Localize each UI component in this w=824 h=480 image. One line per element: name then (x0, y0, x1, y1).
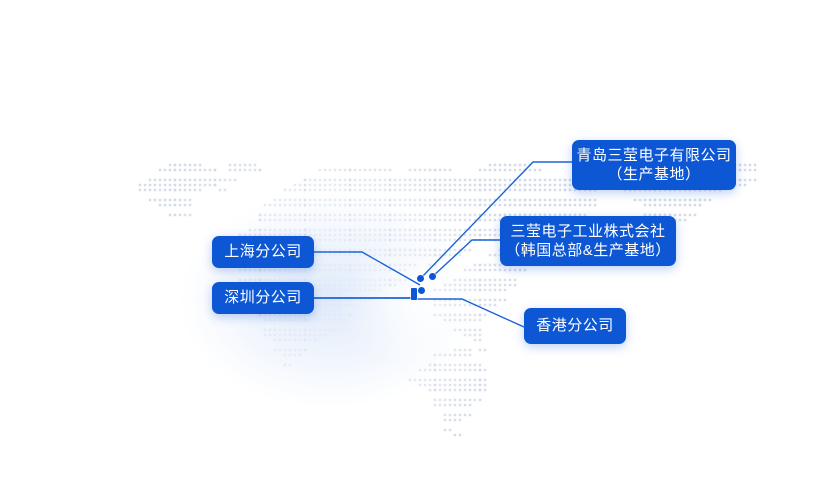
marker-dot-qingdao[interactable] (417, 275, 424, 282)
label-hongkong-line1: 香港分公司 (536, 316, 614, 335)
marker-dot-shenzhen[interactable] (411, 288, 417, 300)
label-shenzhen[interactable]: 深圳分公司 (212, 282, 314, 314)
label-qingdao[interactable]: 青岛三莹电子有限公司 （生产基地） (572, 140, 736, 190)
label-shanghai[interactable]: 上海分公司 (212, 236, 314, 268)
label-shanghai-line1: 上海分公司 (224, 242, 302, 261)
label-korea-line1: 三莹电子工业株式会社 (510, 222, 665, 241)
connector-korea (432, 240, 500, 277)
connector-hongkong (416, 299, 524, 327)
label-korea[interactable]: 三莹电子工业株式会社 （韩国总部&生产基地） (500, 216, 676, 266)
label-korea-line2: （韩国总部&生产基地） (505, 241, 671, 260)
map-stage: 青岛三莹电子有限公司 （生产基地） 三莹电子工业株式会社 （韩国总部&生产基地）… (0, 0, 824, 480)
label-shenzhen-line1: 深圳分公司 (224, 288, 302, 307)
label-qingdao-line2: （生产基地） (607, 165, 700, 184)
marker-dot-shanghai[interactable] (418, 287, 425, 294)
label-qingdao-line1: 青岛三莹电子有限公司 (576, 146, 731, 165)
marker-dot-korea[interactable] (429, 273, 436, 280)
label-hongkong[interactable]: 香港分公司 (524, 308, 626, 344)
connector-shanghai (314, 252, 420, 285)
connector-lines (0, 0, 824, 480)
